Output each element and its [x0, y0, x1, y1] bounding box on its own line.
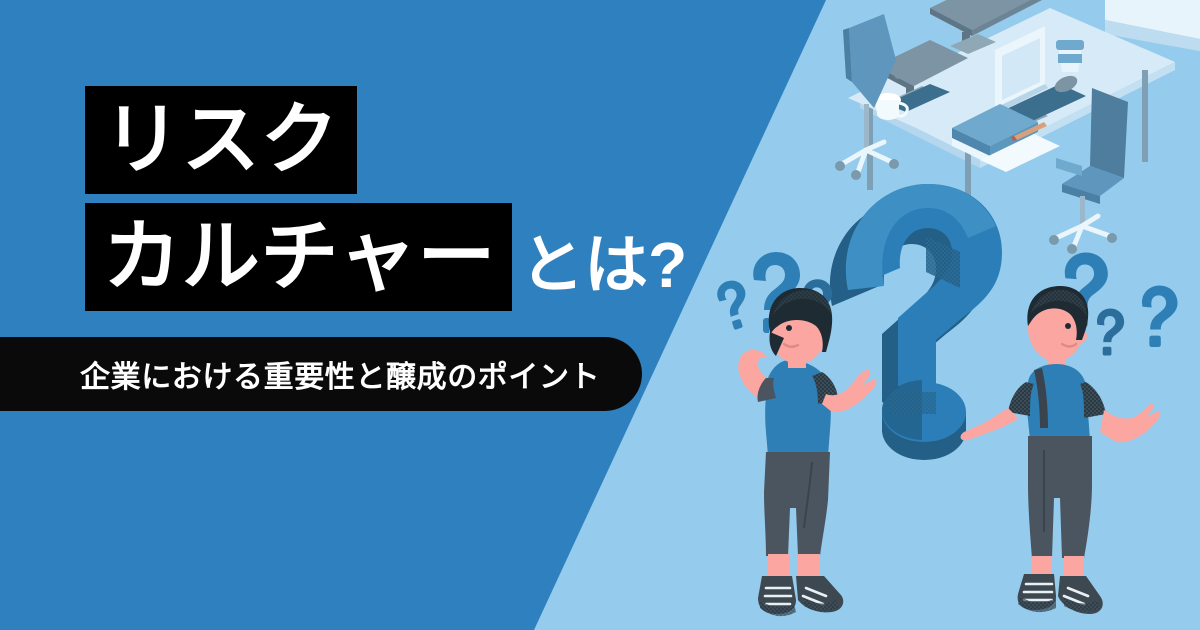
banner-root: リスク カルチャー とは? 企業における重要性と醸成のポイント — [0, 0, 1200, 630]
title-block: リスク カルチャー とは? 企業における重要性と醸成のポイント — [0, 0, 720, 630]
subtitle-pill: 企業における重要性と醸成のポイント — [0, 337, 642, 411]
title-chip-risk: リスク — [85, 86, 357, 194]
subtitle-text: 企業における重要性と醸成のポイント — [0, 352, 600, 396]
title-line-2: カルチャー とは? — [85, 203, 687, 311]
title-line-1: リスク — [85, 86, 357, 194]
title-suffix: とは? — [520, 233, 687, 297]
title-chip-culture: カルチャー — [85, 203, 512, 311]
